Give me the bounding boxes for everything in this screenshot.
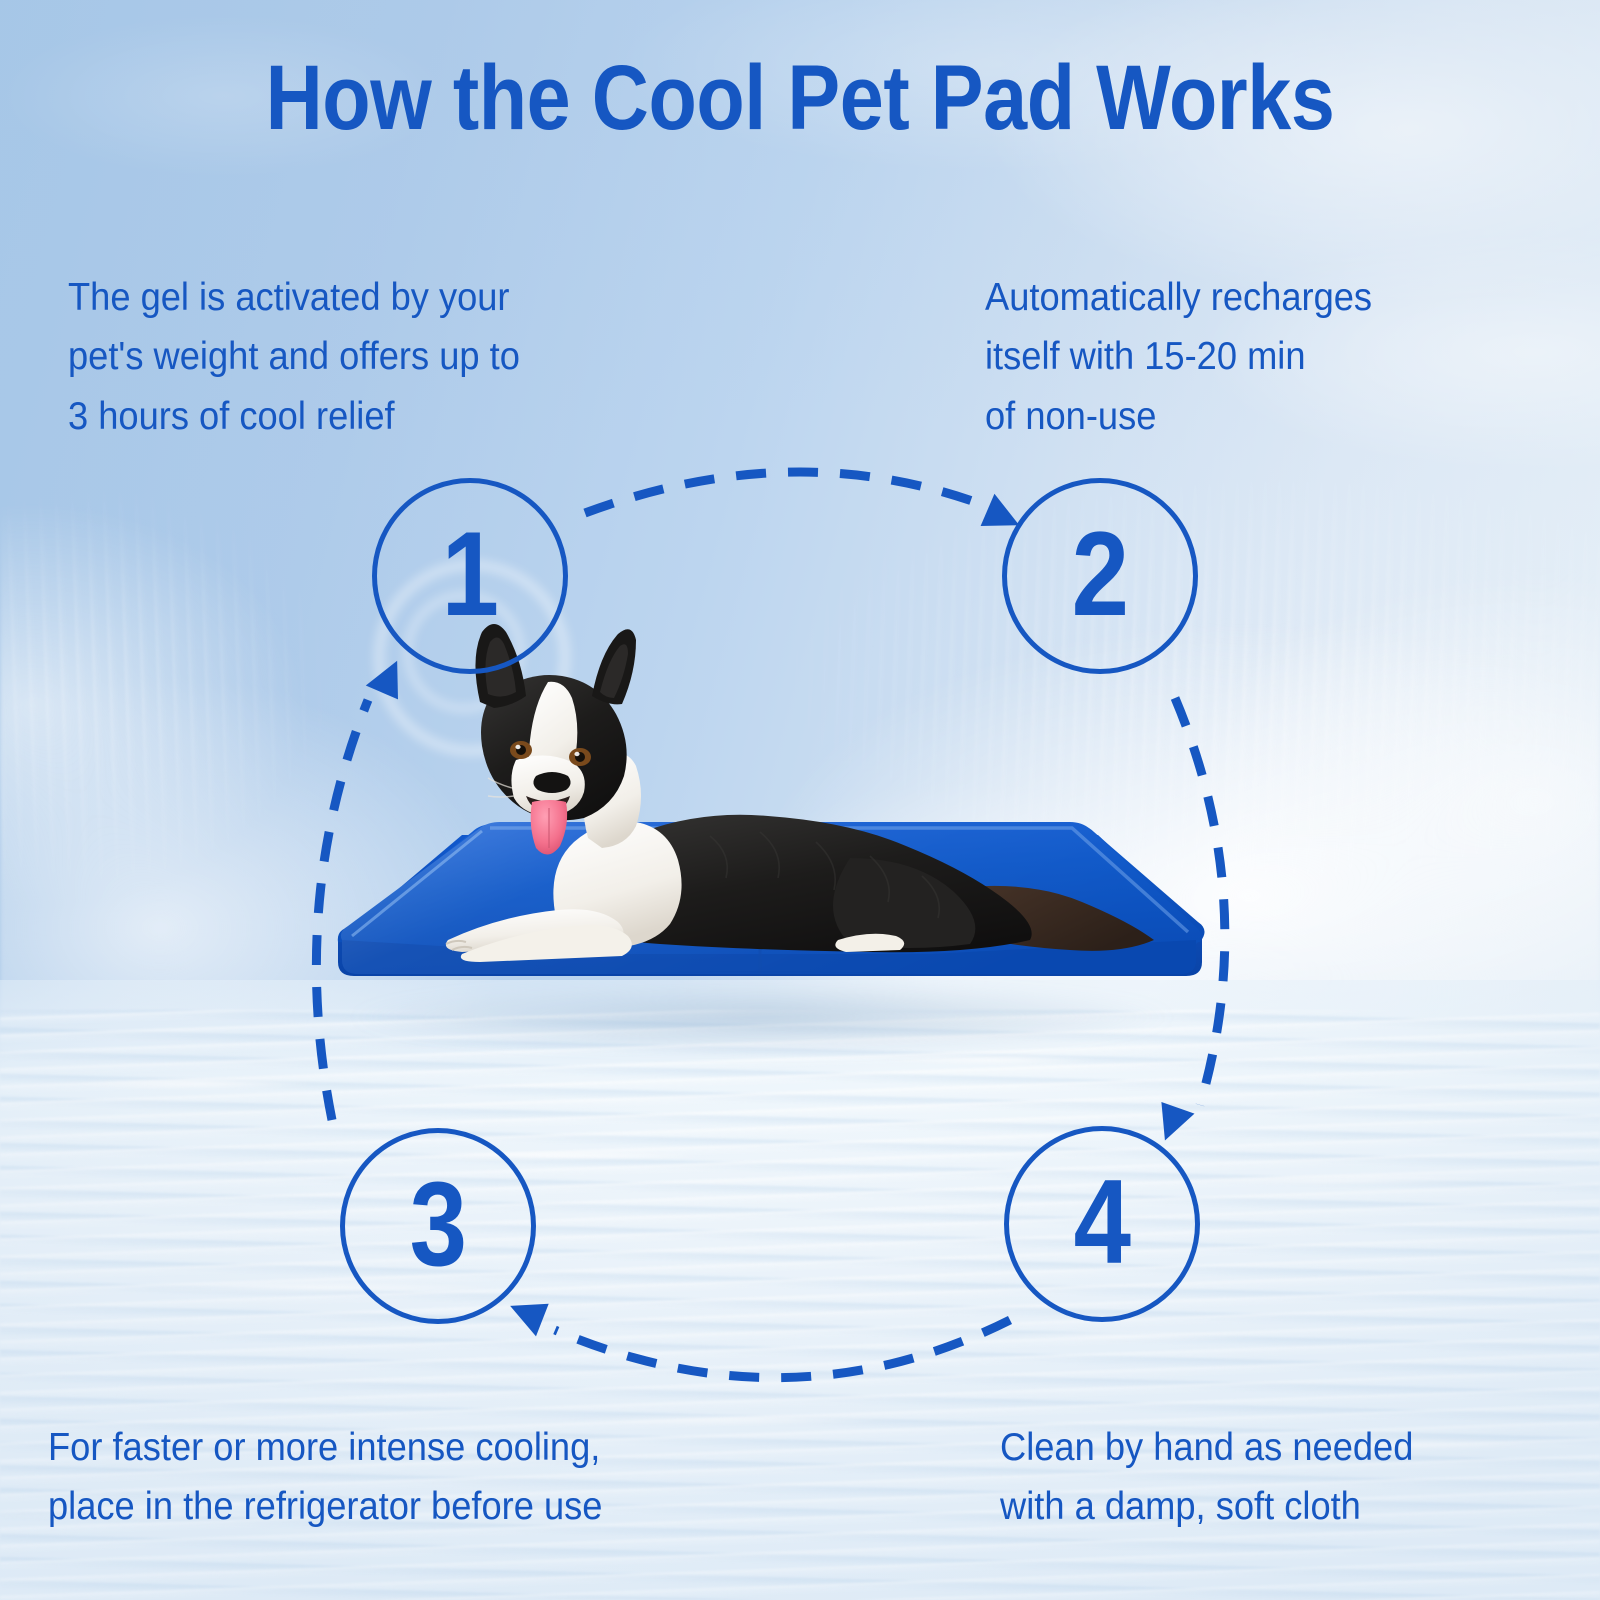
step-circle-1: 1 (372, 478, 568, 674)
step-circle-2: 2 (1002, 478, 1198, 674)
product-photo-dog-on-cooling-pad (330, 610, 1210, 1080)
step-4-caption: Clean by hand as needed with a damp, sof… (1000, 1418, 1521, 1537)
step-3-caption: For faster or more intense cooling, plac… (48, 1418, 755, 1537)
infographic-canvas: How the Cool Pet Pad Works The gel is ac… (0, 0, 1600, 1600)
border-collie-dog (446, 624, 1154, 962)
step-1-caption: The gel is activated by your pet's weigh… (68, 268, 663, 446)
step-circle-4: 4 (1004, 1126, 1200, 1322)
pad-drop-shadow (342, 982, 1182, 1052)
step-number-2: 2 (1071, 514, 1128, 634)
step-number-4: 4 (1073, 1162, 1130, 1282)
step-number-3: 3 (409, 1164, 466, 1284)
step-number-1: 1 (441, 514, 498, 634)
step-2-caption: Automatically recharges itself with 15-2… (985, 268, 1543, 446)
step-circle-3: 3 (340, 1128, 536, 1324)
page-title: How the Cool Pet Pad Works (112, 52, 1488, 144)
